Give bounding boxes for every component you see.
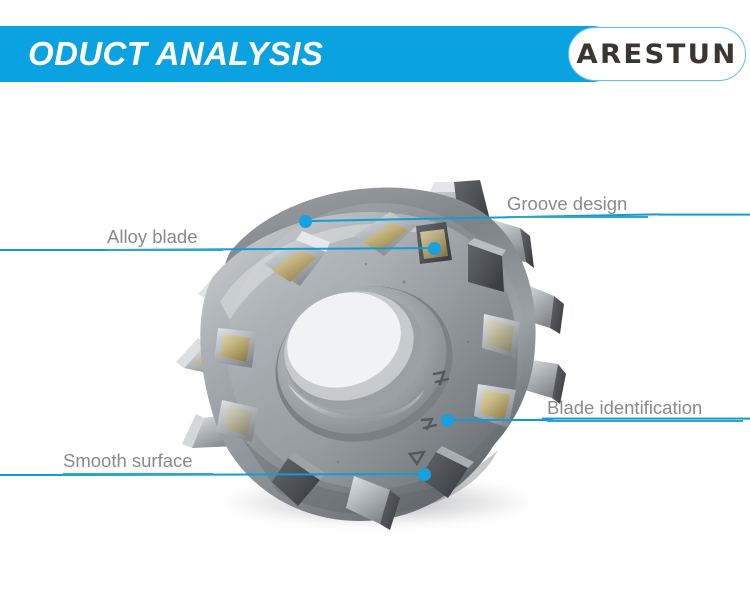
callout-dot-alloy-blade[interactable]	[428, 242, 441, 255]
callout-groove-design[interactable]: Groove design	[507, 192, 648, 218]
brand-logo-panel[interactable]: ARESTUN	[568, 27, 746, 81]
brand-logo-text: ARESTUN	[576, 39, 737, 70]
callout-alloy-blade[interactable]: Alloy blade	[107, 225, 223, 251]
callout-underline-blade-identification	[547, 420, 743, 422]
callout-dot-smooth-surface[interactable]	[418, 468, 431, 481]
callout-label-groove-design: Groove design	[507, 192, 648, 216]
callout-underline-alloy-blade	[107, 249, 223, 251]
callout-dot-blade-identification[interactable]	[441, 414, 454, 427]
callout-label-blade-identification: Blade identification	[547, 396, 743, 420]
page-title: ODUCT ANALYSIS	[28, 32, 323, 76]
product-analysis-page: { "header": { "title": "ODUCT ANALYSIS",…	[0, 0, 750, 606]
callout-dot-groove-design[interactable]	[299, 215, 312, 228]
callout-blade-identification[interactable]: Blade identification	[547, 396, 743, 422]
callout-underline-groove-design	[507, 216, 648, 218]
callout-underline-smooth-surface	[63, 473, 213, 475]
callout-label-smooth-surface: Smooth surface	[63, 449, 213, 473]
callout-label-alloy-blade: Alloy blade	[107, 225, 223, 249]
callout-smooth-surface[interactable]: Smooth surface	[63, 449, 213, 475]
